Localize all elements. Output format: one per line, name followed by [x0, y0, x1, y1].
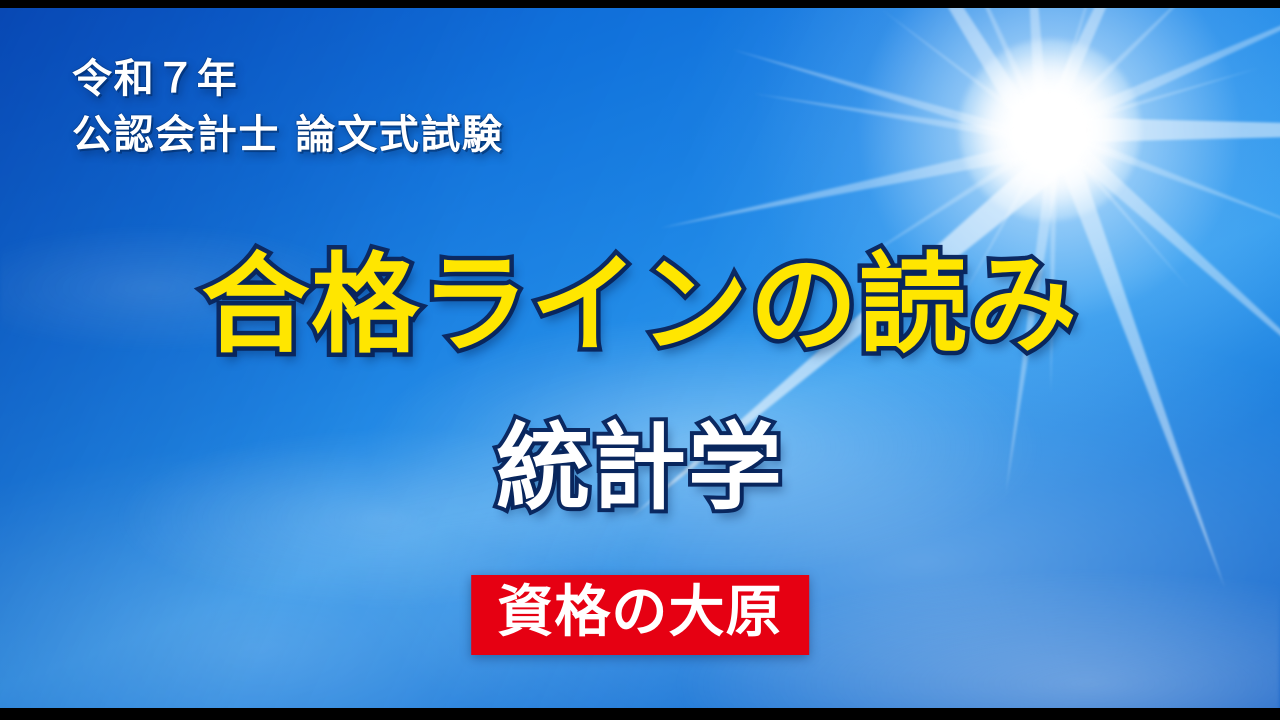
brand-label: 資格の大原 — [497, 585, 783, 641]
kicker-line-2: 公認会計士 論文式試験 — [72, 108, 504, 163]
subheadline: 統計学 — [0, 392, 1280, 528]
headline: 合格ラインの読み — [0, 218, 1280, 374]
kicker-line-1: 令和７年 — [72, 52, 238, 107]
text-content: 令和７年 公認会計士 論文式試験 合格ラインの読み 統計学 資格の大原 — [0, 0, 1280, 720]
letterbox-top — [0, 0, 1280, 8]
letterbox-bottom — [0, 708, 1280, 720]
brand-plate: 資格の大原 — [471, 575, 809, 655]
thumbnail-canvas: 令和７年 公認会計士 論文式試験 合格ラインの読み 統計学 資格の大原 — [0, 0, 1280, 720]
